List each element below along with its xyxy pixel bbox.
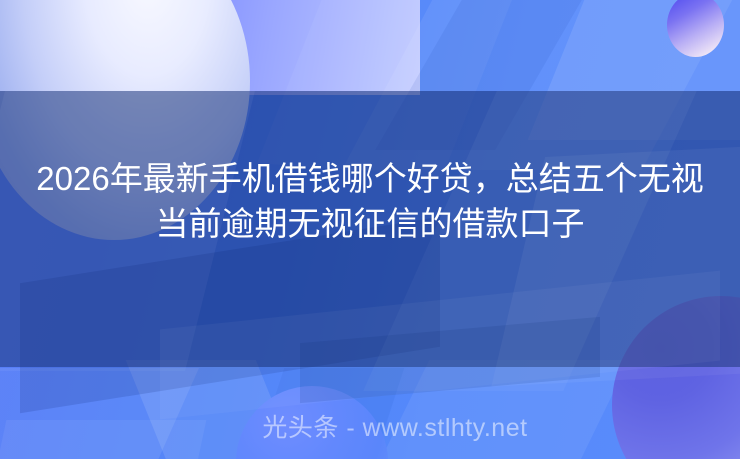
decorative-polygon-upper-d [528, 0, 740, 140]
decorative-polygon-lower-b [126, 360, 304, 459]
decorative-violet-ellipse-small [667, 0, 724, 57]
decorative-polygon-upper-c [257, 0, 533, 176]
site-watermark: 光头条 - www.stlhty.net [0, 413, 740, 443]
decorative-polygon-upper-b [375, 0, 605, 150]
decorative-polygon-lower-d [371, 360, 630, 459]
decorative-polygon-band-c [160, 271, 720, 420]
background-top-gradient-wash [0, 0, 420, 95]
poster-headline: 2026年最新手机借钱哪个好贷，总结五个无视当前逾期无视征信的借款口子 [0, 156, 740, 246]
poster-canvas: 2026年最新手机借钱哪个好贷，总结五个无视当前逾期无视征信的借款口子 光头条 … [0, 0, 740, 459]
decorative-polygon-upper-a [342, 0, 740, 170]
decorative-polygon-band-f [300, 317, 600, 403]
decorative-polygon-band-b [20, 217, 440, 414]
